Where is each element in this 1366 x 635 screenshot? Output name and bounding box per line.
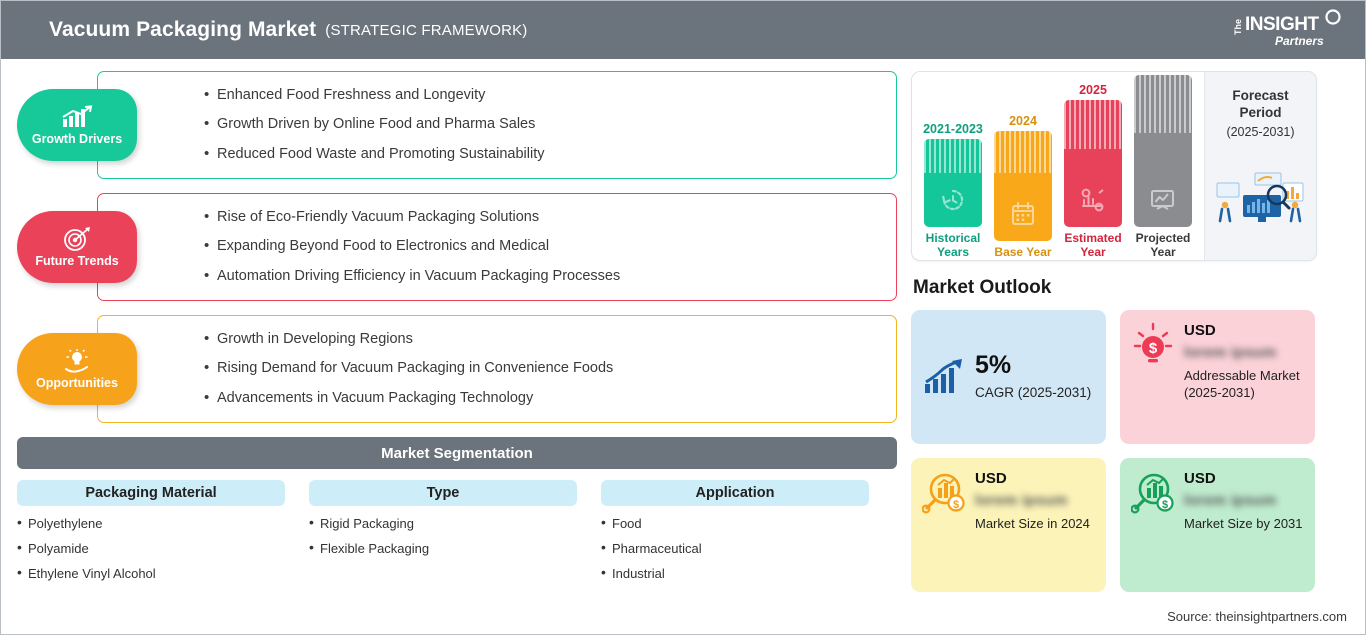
forecast-title-line1: Forecast (1232, 88, 1288, 105)
timeline-bar (924, 139, 982, 227)
cagr-value: 5% (975, 353, 1094, 378)
badge-label: Growth Drivers (32, 132, 122, 146)
opportunities-panel: Growth in Developing Regions Rising Dema… (97, 315, 897, 423)
timeline-bar (994, 131, 1052, 241)
currency-label: USD (1184, 470, 1303, 487)
bar-stripe-overlay (1064, 100, 1122, 148)
market-outlook-card-addressable-market: $ USD lorem ipsum Addressable Market (20… (1120, 310, 1315, 444)
svg-text:$: $ (1149, 340, 1158, 357)
currency-label: USD (975, 470, 1094, 487)
forecast-title-line2: Period (1239, 105, 1281, 122)
list-item: Polyethylene (17, 516, 285, 531)
list-item: Flexible Packaging (309, 541, 577, 556)
future-trends-badge[interactable]: Future Trends (17, 211, 137, 283)
page-subtitle: (STRATEGIC FRAMEWORK) (325, 22, 527, 39)
market-size-2024-label: Market Size in 2024 (975, 516, 1094, 533)
bullet-item: Enhanced Food Freshness and Longevity (204, 87, 896, 104)
addressable-market-value: lorem ipsum (1184, 344, 1303, 361)
badge-label: Future Trends (35, 254, 118, 268)
svg-text:The: The (1233, 19, 1243, 35)
market-outlook-card-cagr: 5% CAGR (2025-2031) (911, 310, 1106, 444)
market-size-2031-value: lorem ipsum (1184, 492, 1303, 509)
cagr-body: 5% CAGR (2025-2031) (975, 353, 1094, 402)
body-container: Enhanced Food Freshness and Longevity Gr… (1, 59, 1365, 635)
segment-header: Packaging Material (17, 480, 285, 506)
bullet-item: Automation Driving Efficiency in Vacuum … (204, 268, 896, 285)
svg-text:Partners: Partners (1275, 34, 1324, 48)
clock-rewind-icon (940, 187, 966, 218)
estimate-chart-icon (1079, 187, 1107, 218)
timeline-year: 2021-2023 (923, 122, 983, 136)
calendar-icon (1010, 201, 1036, 232)
bullet-item: Growth Driven by Online Food and Pharma … (204, 116, 896, 133)
lightbulb-dollar-icon: $ (1130, 322, 1176, 368)
section-growth-drivers: Enhanced Food Freshness and Longevity Gr… (17, 71, 897, 179)
list-item: Industrial (601, 566, 869, 581)
bar-chart-arrow-icon (921, 358, 967, 396)
projection-screen-icon (1149, 187, 1177, 218)
timeline-bar (1134, 75, 1192, 227)
bar-stripe-overlay (1134, 75, 1192, 133)
segmentation-column-type: Type Rigid Packaging Flexible Packaging (309, 480, 577, 581)
svg-text:$: $ (1162, 499, 1168, 511)
study-period-timeline-chart: 2021-2023 Historical Years (911, 71, 1317, 261)
timeline-year: 2031 (1149, 71, 1177, 72)
cagr-label: CAGR (2025-2031) (975, 385, 1094, 402)
market-size-2031-label: Market Size by 2031 (1184, 516, 1303, 533)
opportunities-badge[interactable]: Opportunities (17, 333, 137, 405)
insight-partners-logo: The INSIGHT Partners (1227, 9, 1347, 51)
list-item: Ethylene Vinyl Alcohol (17, 566, 285, 581)
timeline-item-estimated: 2025 (1062, 83, 1124, 260)
market-size-2024-value: lorem ipsum (975, 492, 1094, 509)
timeline-caption: Projected Year (1132, 232, 1194, 260)
segmentation-column-packaging-material: Packaging Material Polyethylene Polyamid… (17, 480, 285, 581)
currency-label: USD (1184, 322, 1303, 339)
segmentation-column-application: Application Food Pharmaceutical Industri… (601, 480, 869, 581)
infographic-page: Vacuum Packaging Market (STRATEGIC FRAME… (0, 0, 1366, 635)
header-bar: Vacuum Packaging Market (STRATEGIC FRAME… (1, 1, 1365, 59)
bar-chart-growth-icon (61, 104, 93, 130)
bar-stripe-overlay (924, 139, 982, 172)
market-size-2024-body: USD lorem ipsum Market Size in 2024 (975, 470, 1094, 533)
timeline-item-historical: 2021-2023 Historical Years (922, 122, 984, 260)
section-opportunities: Growth in Developing Regions Rising Dema… (17, 315, 897, 423)
timeline-year: 2024 (1009, 114, 1037, 128)
bar-stripe-overlay (994, 131, 1052, 173)
list-item: Food (601, 516, 869, 531)
segment-header: Application (601, 480, 869, 506)
timeline-item-base: 2024 Ba (992, 114, 1054, 260)
data-analysis-illustration (1211, 165, 1311, 232)
bullet-item: Growth in Developing Regions (204, 331, 896, 348)
list-item: Polyamide (17, 541, 285, 556)
market-segmentation-header: Market Segmentation (17, 437, 897, 469)
svg-text:INSIGHT: INSIGHT (1245, 14, 1319, 35)
market-outlook-cards: 5% CAGR (2025-2031) $ (911, 310, 1317, 592)
growth-drivers-panel: Enhanced Food Freshness and Longevity Gr… (97, 71, 897, 179)
timeline-caption: Base Year (994, 246, 1051, 260)
addressable-market-body: USD lorem ipsum Addressable Market (2025… (1184, 322, 1303, 402)
lightbulb-hand-icon (62, 348, 92, 374)
market-outlook-card-market-size-2031: $ USD lorem ipsum Market Size by 2031 (1120, 458, 1315, 592)
badge-label: Opportunities (36, 376, 118, 390)
forecast-period-panel: Forecast Period (2025-2031) (1204, 72, 1316, 260)
segment-header: Type (309, 480, 577, 506)
left-column: Enhanced Food Freshness and Longevity Gr… (17, 71, 897, 635)
bullet-item: Rising Demand for Vacuum Packaging in Co… (204, 360, 896, 377)
page-title: Vacuum Packaging Market (49, 18, 316, 42)
growth-drivers-badge[interactable]: Growth Drivers (17, 89, 137, 161)
right-column: 2021-2023 Historical Years (897, 71, 1317, 635)
magnifier-bars-dollar-icon: $ (921, 470, 967, 514)
timeline-bars: 2021-2023 Historical Years (912, 72, 1204, 260)
source-attribution: Source: theinsightpartners.com (1167, 609, 1347, 624)
forecast-range: (2025-2031) (1226, 125, 1294, 139)
list-item: Rigid Packaging (309, 516, 577, 531)
future-trends-panel: Rise of Eco-Friendly Vacuum Packaging So… (97, 193, 897, 301)
timeline-caption: Historical Years (922, 232, 984, 260)
timeline-caption: Estimated Year (1062, 232, 1124, 260)
addressable-market-label: Addressable Market (2025-2031) (1184, 368, 1303, 402)
magnifier-bars-dollar-icon: $ (1130, 470, 1176, 514)
timeline-item-projected: 2031 Projected Year (1132, 71, 1194, 260)
bullet-item: Expanding Beyond Food to Electronics and… (204, 238, 896, 255)
timeline-bar (1064, 100, 1122, 227)
bullet-item: Reduced Food Waste and Promoting Sustain… (204, 146, 896, 163)
section-future-trends: Rise of Eco-Friendly Vacuum Packaging So… (17, 193, 897, 301)
market-outlook-title: Market Outlook (913, 277, 1317, 299)
market-outlook-card-market-size-2024: $ USD lorem ipsum Market Size in 2024 (911, 458, 1106, 592)
bullet-item: Advancements in Vacuum Packaging Technol… (204, 390, 896, 407)
timeline-year: 2025 (1079, 83, 1107, 97)
list-item: Pharmaceutical (601, 541, 869, 556)
target-dart-icon (62, 226, 92, 252)
segmentation-columns: Packaging Material Polyethylene Polyamid… (17, 480, 897, 581)
bullet-item: Rise of Eco-Friendly Vacuum Packaging So… (204, 209, 896, 226)
svg-text:$: $ (953, 499, 959, 511)
market-size-2031-body: USD lorem ipsum Market Size by 2031 (1184, 470, 1303, 533)
